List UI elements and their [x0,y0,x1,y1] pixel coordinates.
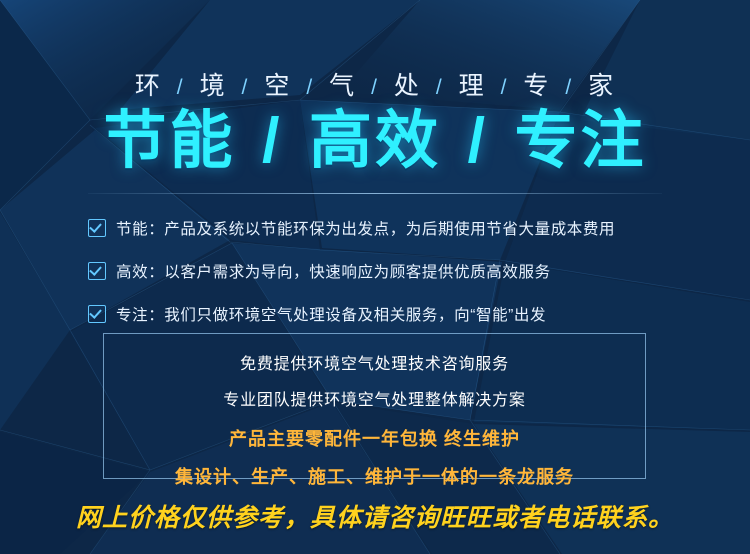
headline-separator-2: / [468,106,489,176]
headline-part-1: 节能 [103,106,235,176]
service-info-box: 免费提供环境空气处理技术咨询服务 专业团队提供环境空气处理整体解决方案 产品主要… [103,333,646,479]
list-item: 节能：产品及系统以节能环保为出发点，为后期使用节省大量成本费用 [88,208,688,248]
headline-separator-1: / [262,106,283,176]
tagline-separator: / [177,76,185,99]
tagline-separator: / [306,76,314,99]
tagline-separator: / [371,76,379,99]
headline-part-3: 专注 [515,106,647,176]
tagline-separator: / [436,76,444,99]
list-item: 专注：我们只做环境空气处理设备及相关服务，向“智能”出发 [88,294,688,334]
list-item-label: 专注：我们只做环境空气处理设备及相关服务，向“智能”出发 [116,303,546,325]
service-info-line-4: 集设计、生产、施工、维护于一体的一条龙服务 [104,463,645,489]
tagline-char-3: 气 [329,72,356,100]
service-info-line-2: 专业团队提供环境空气处理整体解决方案 [104,386,645,410]
tagline-separator: / [242,76,250,99]
headline-part-2: 高效 [309,106,441,176]
tagline-char-2: 空 [264,72,291,100]
tagline-separator: / [501,76,509,99]
list-item-label: 节能：产品及系统以节能环保为出发点，为后期使用节省大量成本费用 [116,217,615,239]
tagline-char-5: 理 [459,72,486,100]
list-item-label: 高效：以客户需求为导向，快速响应为顾客提供优质高效服务 [116,260,551,282]
service-info-line-3: 产品主要零配件一年包换 终生维护 [104,425,645,451]
checkbox-checked-icon [88,219,106,237]
tagline-char-6: 专 [523,72,550,100]
checkbox-checked-icon [88,262,106,280]
list-item: 高效：以客户需求为导向，快速响应为顾客提供优质高效服务 [88,251,688,291]
divider [88,193,662,194]
headline: 节能 / 高效 / 专注 [0,108,750,174]
service-info-line-1: 免费提供环境空气处理技术咨询服务 [104,350,645,374]
tagline: 环 / 境 / 空 / 气 / 处 / 理 / 专 / 家 [0,66,750,102]
promo-banner: 环 / 境 / 空 / 气 / 处 / 理 / 专 / 家 节能 / 高效 / … [0,0,750,554]
tagline-char-1: 境 [200,72,227,100]
tagline-char-7: 家 [588,72,615,100]
tagline-char-4: 处 [394,72,421,100]
tagline-separator: / [565,76,573,99]
tagline-char-0: 环 [135,72,162,100]
footer-notice: 网上价格仅供参考，具体请咨询旺旺或者电话联系。 [0,498,750,534]
checkbox-checked-icon [88,305,106,323]
feature-list: 节能：产品及系统以节能环保为出发点，为后期使用节省大量成本费用 高效：以客户需求… [88,208,688,337]
